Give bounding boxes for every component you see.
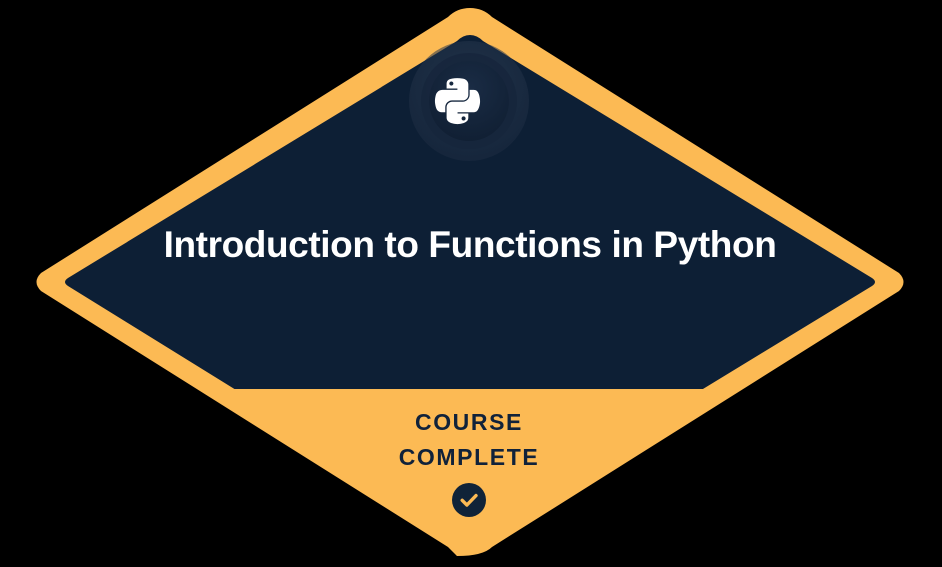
badge-diamond-graphic [0,0,942,567]
badge-canvas: Introduction to Functions in Python COUR… [0,0,942,567]
